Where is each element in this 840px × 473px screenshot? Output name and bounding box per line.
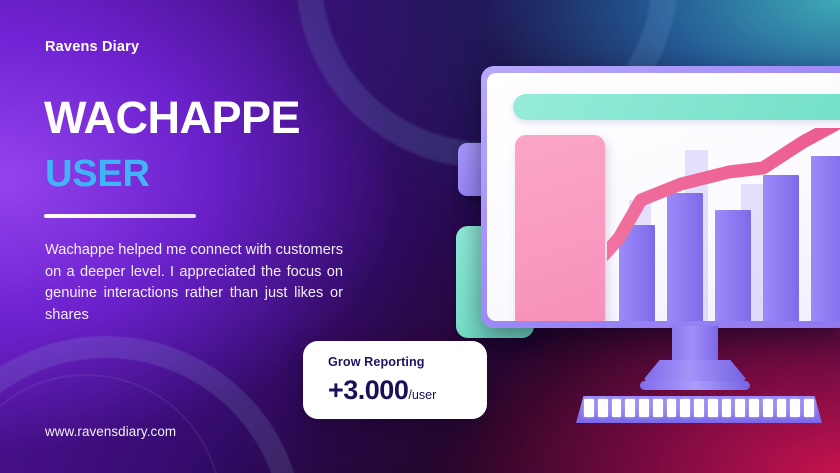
stat-card-unit: /user (408, 388, 436, 402)
stat-card-title: Grow Reporting (328, 355, 425, 369)
dashboard-chart (607, 128, 840, 321)
keyboard-key (790, 399, 800, 417)
keyboard-key (625, 399, 635, 417)
title-divider (44, 214, 196, 218)
keyboard-key (639, 399, 649, 417)
keyboard-key (653, 399, 663, 417)
decorative-ring-bottom-left (0, 336, 304, 473)
keyboard-key (777, 399, 787, 417)
keyboard-key (584, 399, 594, 417)
stat-card-value: +3.000/user (328, 375, 436, 406)
keyboard-key (680, 399, 690, 417)
website-url: www.ravensdiary.com (45, 424, 176, 439)
brand-logo: Ravens Diary (45, 39, 139, 55)
dashboard-header-bar (513, 94, 840, 120)
keyboard-key (598, 399, 608, 417)
page-title: WACHAPPE (44, 95, 300, 140)
testimonial-text: Wachappe helped me connect with customer… (45, 240, 343, 326)
chart-svg (607, 128, 840, 321)
keyboard-key (804, 399, 814, 417)
keyboard-key (612, 399, 622, 417)
keyboard-keys (584, 399, 814, 417)
monitor-stand-foot (640, 381, 750, 390)
monitor-screen (487, 73, 840, 321)
keyboard-key (694, 399, 704, 417)
keyboard-key (667, 399, 677, 417)
keyboard-key (749, 399, 759, 417)
page-subtitle: USER (45, 155, 150, 193)
dashboard-side-panel (515, 135, 605, 321)
poster-canvas: Ravens Diary WACHAPPE USER Wachappe help… (0, 0, 840, 473)
monitor-illustration (481, 66, 840, 328)
stat-card: Grow Reporting +3.000/user (303, 341, 487, 419)
keyboard-key (763, 399, 773, 417)
keyboard-key (722, 399, 732, 417)
keyboard-key (735, 399, 745, 417)
keyboard-key (708, 399, 718, 417)
stat-card-number: +3.000 (328, 375, 408, 405)
